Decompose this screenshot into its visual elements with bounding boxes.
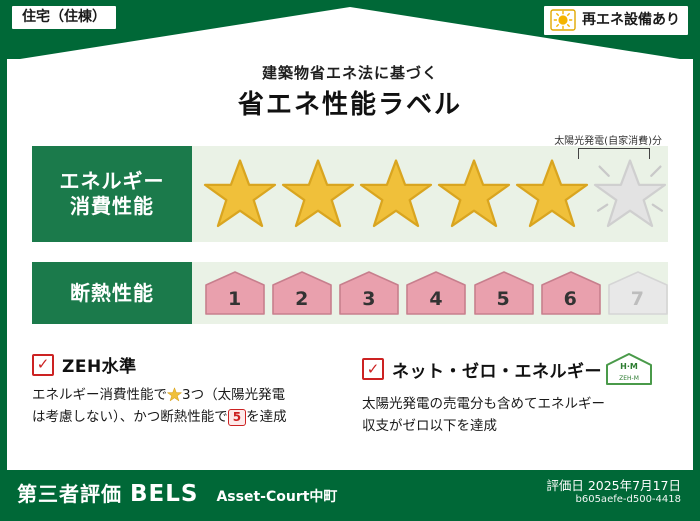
star-icon (436, 157, 512, 231)
sun-icon (550, 9, 576, 31)
label-subtitle: 建築物省エネ法に基づく (0, 62, 700, 83)
insulation-level-1: 1 (204, 270, 265, 316)
insulation-level-3: 3 (338, 270, 399, 316)
svg-text:H·M: H·M (620, 362, 638, 371)
check-net-zero-desc-line2: 収支がゼロ以下を達成 (362, 418, 497, 434)
star-rating (192, 146, 668, 242)
solar-note-text: 太陽光発電(自家消費)分 (472, 132, 662, 147)
insulation-level-6: 6 (540, 270, 601, 316)
check-net-zero-description: 太陽光発電の売電分も含めてエネルギー 収支がゼロ以下を達成 (362, 394, 682, 437)
star-icon-small (167, 387, 182, 402)
check-net-zero-title: ネット・ゼロ・エネルギー (392, 357, 602, 382)
insulation-level-5-value: 5 (497, 288, 510, 316)
evaluation-date-label: 評価日 (546, 478, 584, 493)
star-icon (358, 157, 434, 231)
check-zeh-desc-part2: 3つ（太陽光発電 (182, 387, 285, 403)
check-zeh-desc-part3: は考慮しない）、かつ断熱性能で (32, 409, 228, 425)
building-type-tag: 住宅（住棟） (10, 4, 118, 31)
energy-label-line1: エネルギー (60, 169, 165, 194)
zeh-m-mark-icon: H·M ZEH-M (604, 352, 654, 386)
insulation-badge: 5 (228, 409, 246, 426)
energy-stars-panel: 太陽光発電(自家消費)分 (192, 146, 668, 242)
energy-performance-label: 住宅（住棟） 再エネ設備あり 建築物省エネ法に基づく 省エネ (0, 0, 700, 521)
check-zeh-description: エネルギー消費性能で3つ（太陽光発電 は考慮しない）、かつ断熱性能で5を達成 (32, 385, 332, 428)
energy-performance-block: エネルギー 消費性能 太陽光発電(自家消費)分 (32, 146, 668, 242)
check-zeh: ✓ ZEH水準 エネルギー消費性能で3つ（太陽光発電 は考慮しない）、かつ断熱性… (32, 352, 332, 428)
bels-logo: BELS (130, 481, 198, 507)
insulation-levels-panel: 1 2 3 4 5 (192, 262, 668, 324)
insulation-level-7-value: 7 (631, 288, 644, 316)
label-title: 省エネ性能ラベル (0, 84, 700, 121)
insulation-level-6-value: 6 (564, 288, 577, 316)
evaluation-date: 評価日 2025年7月17日 (546, 478, 681, 494)
check-zeh-head: ✓ ZEH水準 (32, 352, 332, 377)
star-icon (202, 157, 278, 231)
energy-label-line2: 消費性能 (60, 194, 165, 219)
insulation-level-2-value: 2 (295, 288, 308, 316)
check-zeh-title: ZEH水準 (62, 352, 137, 377)
insulation-level-7: 7 (607, 270, 668, 316)
star-icon (280, 157, 356, 231)
third-party-evaluation-label: 第三者評価 (17, 478, 122, 507)
check-net-zero-head: ✓ ネット・ゼロ・エネルギー H·M ZEH-M (362, 352, 682, 386)
energy-performance-label-cell: エネルギー 消費性能 (32, 146, 192, 242)
insulation-label-cell: 断熱性能 (32, 262, 192, 324)
certificate-id: b605aefe-d500-4418 (546, 494, 681, 507)
renewable-equipment-tag: 再エネ設備あり (542, 4, 690, 37)
insulation-performance-block: 断熱性能 1 2 3 4 (32, 262, 668, 324)
star-icon-solar (592, 157, 668, 231)
property-name: Asset-Court中町 (216, 486, 337, 506)
insulation-level-5: 5 (473, 270, 534, 316)
insulation-level-1-value: 1 (228, 288, 241, 316)
check-zeh-desc-part1: エネルギー消費性能で (32, 387, 167, 403)
checkmark-icon: ✓ (362, 358, 384, 380)
star-icon (514, 157, 590, 231)
check-net-zero: ✓ ネット・ゼロ・エネルギー H·M ZEH-M 太陽光発電の売電分も含めてエネ… (362, 352, 682, 437)
svg-text:ZEH-M: ZEH-M (619, 375, 639, 382)
insulation-level-4-value: 4 (429, 288, 442, 316)
footer-left: 第三者評価 BELS Asset-Court中町 (7, 478, 337, 507)
insulation-level-2: 2 (271, 270, 332, 316)
footer-right: 評価日 2025年7月17日 b605aefe-d500-4418 (546, 478, 693, 506)
insulation-level-row: 1 2 3 4 5 (192, 262, 668, 324)
evaluation-date-value: 2025年7月17日 (588, 478, 681, 493)
check-zeh-desc-part4: を達成 (246, 409, 287, 425)
footer-bar: 第三者評価 BELS Asset-Court中町 評価日 2025年7月17日 … (7, 470, 693, 514)
insulation-level-4: 4 (405, 270, 466, 316)
insulation-level-3-value: 3 (362, 288, 375, 316)
check-net-zero-desc-line1: 太陽光発電の売電分も含めてエネルギー (362, 396, 605, 412)
checkmark-icon: ✓ (32, 354, 54, 376)
renewable-tag-label: 再エネ設備あり (582, 13, 680, 27)
